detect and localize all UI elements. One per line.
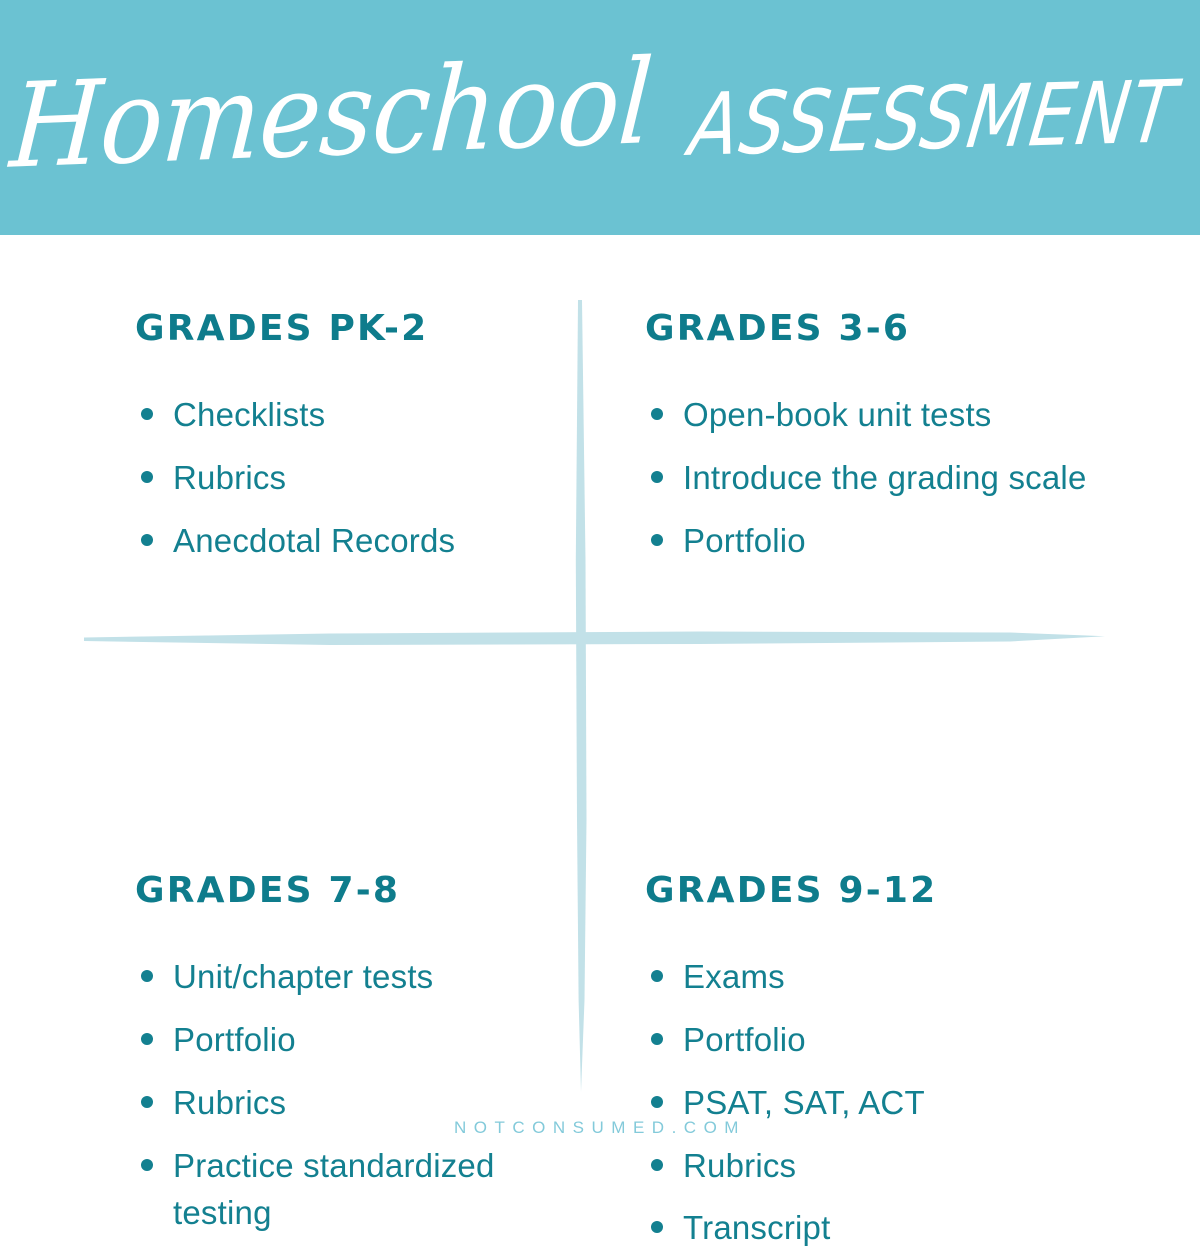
list-item-label: Checklists (173, 396, 325, 433)
header-banner: Homeschool ASSESSMENT (0, 0, 1200, 235)
quadrant-grid: GRADES PK-2 Checklists Rubrics Anecdotal… (0, 235, 1200, 1110)
bullet-icon (651, 1096, 663, 1108)
list-item: Open-book unit tests (645, 391, 1113, 439)
quadrant-list-grades-9-12: Exams Portfolio PSAT, SAT, ACT Rubrics T… (645, 953, 1200, 1252)
quadrant-heading-grades-pk-2: GRADES PK-2 (135, 311, 580, 347)
list-item: Portfolio (645, 517, 1113, 565)
page-title-script-word: Homeschool (7, 43, 655, 184)
quadrant-heading-grades-7-8: GRADES 7-8 (135, 873, 580, 909)
bullet-icon (141, 1033, 153, 1045)
quadrant-list-grades-7-8: Unit/chapter tests Portfolio Rubrics Pra… (135, 953, 580, 1237)
list-item: Unit/chapter tests (135, 953, 580, 1001)
list-item-label: Anecdotal Records (173, 522, 455, 559)
bullet-icon (141, 534, 153, 546)
bullet-icon (651, 1033, 663, 1045)
list-item-label: Exams (683, 958, 785, 995)
list-item: Portfolio (645, 1016, 1113, 1064)
quadrant-heading-grades-3-6: GRADES 3-6 (645, 311, 1200, 347)
quadrant-grades-3-6: GRADES 3-6 Open-book unit tests Introduc… (580, 235, 1200, 638)
list-item: Rubrics (645, 1142, 1113, 1190)
list-item: Exams (645, 953, 1113, 1001)
list-item: Checklists (135, 391, 580, 439)
list-item: Transcript (645, 1204, 1113, 1252)
quadrant-list-grades-3-6: Open-book unit tests Introduce the gradi… (645, 391, 1200, 565)
bullet-icon (141, 970, 153, 982)
quadrant-grades-7-8: GRADES 7-8 Unit/chapter tests Portfolio … (0, 638, 580, 1110)
quadrant-grades-pk-2: GRADES PK-2 Checklists Rubrics Anecdotal… (0, 235, 580, 638)
quadrant-heading-grades-9-12: GRADES 9-12 (645, 873, 1200, 909)
list-item-label: Rubrics (173, 1084, 286, 1121)
list-item: Portfolio (135, 1016, 580, 1064)
list-item-label: Transcript (683, 1209, 830, 1246)
list-item: Introduce the grading scale (645, 454, 1113, 502)
list-item-label: Open-book unit tests (683, 396, 992, 433)
bullet-icon (141, 408, 153, 420)
list-item-label: Rubrics (173, 459, 286, 496)
quadrant-grades-9-12: GRADES 9-12 Exams Portfolio PSAT, SAT, A… (580, 638, 1200, 1110)
list-item: Anecdotal Records (135, 517, 580, 565)
bullet-icon (141, 1096, 153, 1108)
page-title-caps-word: ASSESSMENT (685, 69, 1182, 169)
bullet-icon (651, 1159, 663, 1171)
bullet-icon (651, 1221, 663, 1233)
quadrant-list-grades-pk-2: Checklists Rubrics Anecdotal Records (135, 391, 580, 565)
bullet-icon (651, 408, 663, 420)
list-item-label: Portfolio (683, 1021, 806, 1058)
bullet-icon (651, 471, 663, 483)
list-item: Rubrics (135, 454, 580, 502)
list-item-label: Portfolio (173, 1021, 296, 1058)
bullet-icon (651, 970, 663, 982)
bullet-icon (141, 471, 153, 483)
page-title: Homeschool ASSESSMENT (0, 0, 1200, 235)
bullet-icon (141, 1159, 153, 1171)
list-item-label: Practice standardized testing (173, 1147, 495, 1232)
list-item-label: Portfolio (683, 522, 806, 559)
bullet-icon (651, 534, 663, 546)
list-item-label: Introduce the grading scale (683, 459, 1087, 496)
footer: NOTCONSUMED.COM (0, 1118, 1200, 1138)
list-item-label: PSAT, SAT, ACT (683, 1084, 925, 1121)
footer-website-label: NOTCONSUMED.COM (454, 1118, 746, 1137)
list-item-label: Unit/chapter tests (173, 958, 433, 995)
list-item: Practice standardized testing (135, 1142, 580, 1238)
list-item-label: Rubrics (683, 1147, 796, 1184)
